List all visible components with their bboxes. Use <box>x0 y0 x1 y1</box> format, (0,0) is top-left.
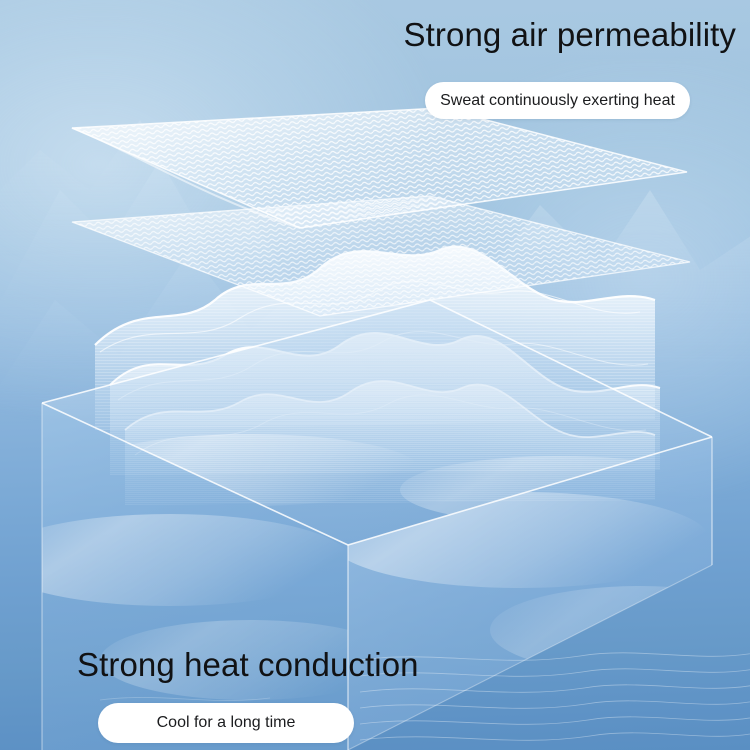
infographic-canvas: Strong air permeability Sweat continuous… <box>0 0 750 750</box>
page-title-bottom: Strong heat conduction <box>77 648 419 681</box>
badge-cool-long-time: Cool for a long time <box>98 703 354 743</box>
badge-top-label: Sweat continuously exerting heat <box>440 92 675 110</box>
badge-bottom-label: Cool for a long time <box>157 714 296 732</box>
badge-sweat-exerting-heat: Sweat continuously exerting heat <box>425 82 690 119</box>
page-title-top: Strong air permeability <box>404 18 736 51</box>
